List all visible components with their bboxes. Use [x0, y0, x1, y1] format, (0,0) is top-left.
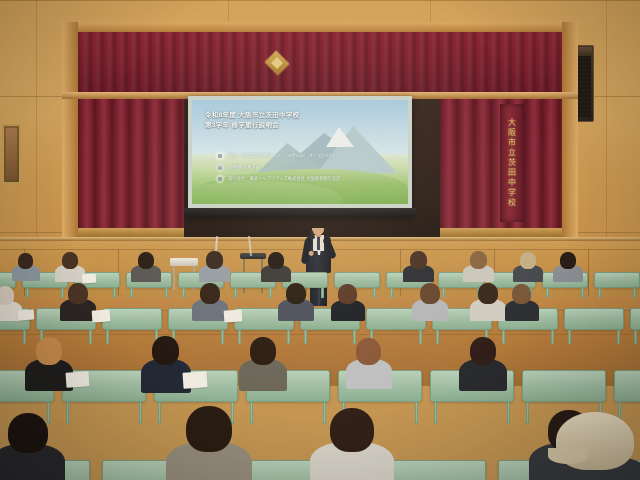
- calendar-icon: [216, 152, 224, 160]
- handout-paper: [182, 371, 207, 389]
- chair-leg: [287, 330, 290, 344]
- picture-canvas: [6, 128, 17, 180]
- attendee-head: [356, 338, 381, 365]
- attendee: [286, 283, 306, 326]
- chair-leg: [526, 402, 529, 424]
- attendee-head: [470, 337, 496, 365]
- cap-brim: [548, 448, 588, 464]
- speaker-cap: [577, 47, 592, 56]
- chair-leg: [546, 288, 549, 298]
- chair-leg: [26, 288, 29, 298]
- curtain-hem: [78, 228, 184, 237]
- attendee-head: [470, 251, 487, 269]
- chair-leg: [442, 288, 445, 298]
- screen-surface: 令和8年度 大阪市立茨田中学校 第3学年 修学旅行説明会 日程：令和8年5月12…: [188, 96, 412, 208]
- attendee-head: [68, 283, 88, 304]
- proscenium-right: [562, 22, 578, 237]
- slide-bullet-text: 日程：令和8年5月12日（火）～5月14日（木）2泊3日: [228, 153, 331, 159]
- slide-bullet: 行先：長野県 白馬方面: [216, 165, 400, 171]
- chair-leg: [23, 330, 26, 344]
- phone-icon: [216, 175, 224, 183]
- chair-leg: [507, 402, 510, 424]
- handout-paper: [224, 309, 243, 322]
- chair-leg: [158, 402, 161, 424]
- slide-bullet-text: 旅行会社：東武トップツアーズ株式会社 大阪教育旅行支店: [228, 176, 340, 182]
- attendee: [200, 283, 220, 326]
- attendee-head: [62, 252, 78, 269]
- attendee-head: [338, 284, 357, 304]
- curtain-hem: [440, 228, 562, 237]
- attendee: [470, 337, 496, 397]
- attendee-head: [520, 252, 536, 269]
- attendee-head: [478, 283, 498, 304]
- cap-wearer: [556, 412, 634, 480]
- proscenium-left: [62, 22, 78, 237]
- chair-leg: [250, 402, 253, 424]
- chair-leg: [436, 330, 439, 344]
- slide-bullet: 旅行会社：東武トップツアーズ株式会社 大阪教育旅行支店: [216, 175, 400, 183]
- attendee: [520, 252, 536, 286]
- chair: [630, 308, 640, 330]
- attendee: [18, 253, 33, 285]
- attendee: [410, 251, 427, 286]
- attendee: [420, 283, 440, 326]
- attendee-head: [200, 283, 220, 304]
- chair-leg: [502, 330, 505, 344]
- attendee: [68, 283, 88, 326]
- banner-text: 大阪市立茨田中学校: [507, 118, 518, 208]
- attendee: [560, 252, 576, 286]
- attendee-head: [206, 251, 223, 269]
- attendee: [250, 337, 276, 397]
- chair-leg: [182, 288, 185, 298]
- chair-leg: [415, 402, 418, 424]
- attendee: [330, 408, 374, 480]
- screen-bottom-bar: [184, 208, 416, 217]
- attendee: [8, 413, 48, 480]
- chair-leg: [323, 402, 326, 424]
- stage-curtain-left: [78, 99, 184, 237]
- attendee: [36, 337, 62, 397]
- slide-title: 令和8年度 大阪市立茨田中学校 第3学年 修学旅行説明会: [205, 111, 398, 130]
- attendee-head: [268, 252, 284, 269]
- chair: [614, 370, 640, 402]
- chair-leg: [139, 402, 142, 424]
- chair: [522, 370, 606, 402]
- attendee-head: [36, 337, 62, 365]
- chair-leg: [89, 330, 92, 344]
- attendee-head: [330, 408, 374, 452]
- attendee-head: [186, 406, 232, 452]
- chair-leg: [633, 288, 636, 298]
- chair-leg: [130, 288, 133, 298]
- attendee: [470, 251, 487, 286]
- handout-paper: [18, 309, 35, 320]
- attendee-head: [250, 337, 276, 365]
- stage-valance: [78, 32, 562, 92]
- presenter-hair: [311, 221, 325, 228]
- chair-leg: [106, 330, 109, 344]
- chair-leg: [113, 288, 116, 298]
- chair-leg: [617, 330, 620, 344]
- audience-area: [0, 246, 640, 480]
- chair: [594, 272, 640, 288]
- attendee: [152, 336, 179, 399]
- attendee: [206, 251, 223, 286]
- chair-leg: [66, 402, 69, 424]
- proscenium-top: [62, 22, 578, 32]
- handout-paper: [92, 309, 111, 322]
- attendee: [138, 252, 154, 286]
- attendee-head: [138, 252, 154, 269]
- attendee: [356, 338, 381, 395]
- chair-leg: [390, 288, 393, 298]
- attendee-head: [0, 286, 14, 305]
- wall-seam: [0, 0, 640, 1]
- chair-leg: [598, 288, 601, 298]
- handout-paper: [66, 371, 90, 388]
- projection-screen: 令和8年度 大阪市立茨田中学校 第3学年 修学旅行説明会 日程：令和8年5月12…: [188, 96, 412, 216]
- attendee: [186, 406, 232, 480]
- slide-title-line1: 令和8年度 大阪市立茨田中学校: [205, 111, 398, 121]
- attendee: [0, 286, 14, 325]
- attendee: [338, 284, 357, 325]
- attendee-head: [512, 284, 531, 304]
- chair: [564, 308, 624, 330]
- chair-leg: [634, 330, 637, 344]
- attendee: [62, 252, 78, 286]
- chair-leg: [373, 288, 376, 298]
- handout-paper: [82, 274, 97, 284]
- chair-leg: [568, 330, 571, 344]
- gold-diamond-emblem: [262, 50, 292, 76]
- chair-leg: [419, 330, 422, 344]
- chair-leg: [434, 402, 437, 424]
- chair-leg: [581, 288, 584, 298]
- chair-leg: [221, 330, 224, 344]
- chair-leg: [238, 330, 241, 344]
- slide-bullet-text: 行先：長野県 白馬方面: [216, 165, 260, 171]
- chair: [102, 308, 162, 330]
- attendee-head: [420, 283, 440, 304]
- attendee: [512, 284, 531, 325]
- projected-slide: 令和8年度 大阪市立茨田中学校 第3学年 修学旅行説明会 日程：令和8年5月12…: [192, 100, 408, 204]
- attendee-head: [286, 283, 306, 304]
- slide-bullet-list: 日程：令和8年5月12日（火）～5月14日（木）2泊3日 行先：長野県 白馬方面…: [216, 152, 400, 188]
- chair-leg: [269, 288, 272, 298]
- framed-wall-picture: [2, 124, 21, 184]
- speaker-grille: [578, 56, 591, 117]
- attendee-head: [18, 253, 33, 269]
- school-name-banner: 大阪市立茨田中学校: [500, 104, 524, 222]
- attendee-head: [152, 336, 179, 365]
- attendee-head: [8, 413, 48, 453]
- attendee: [268, 252, 284, 286]
- chair-leg: [321, 288, 324, 298]
- attendee-head: [410, 251, 427, 269]
- chair-leg: [61, 288, 64, 298]
- attendee-head: [560, 252, 576, 269]
- chair-leg: [551, 330, 554, 344]
- attendee: [478, 283, 498, 326]
- chair-leg: [234, 288, 237, 298]
- chair-leg: [304, 330, 307, 344]
- slide-bullet: 日程：令和8年5月12日（火）～5月14日（木）2泊3日: [216, 152, 400, 160]
- photo-scene: 大阪市立茨田中学校 令和8年度 大阪市立茨田中学校 第3学年 修学旅行説明会: [0, 0, 640, 480]
- slide-title-line2: 第3学年 修学旅行説明会: [205, 121, 398, 131]
- chair-leg: [165, 288, 168, 298]
